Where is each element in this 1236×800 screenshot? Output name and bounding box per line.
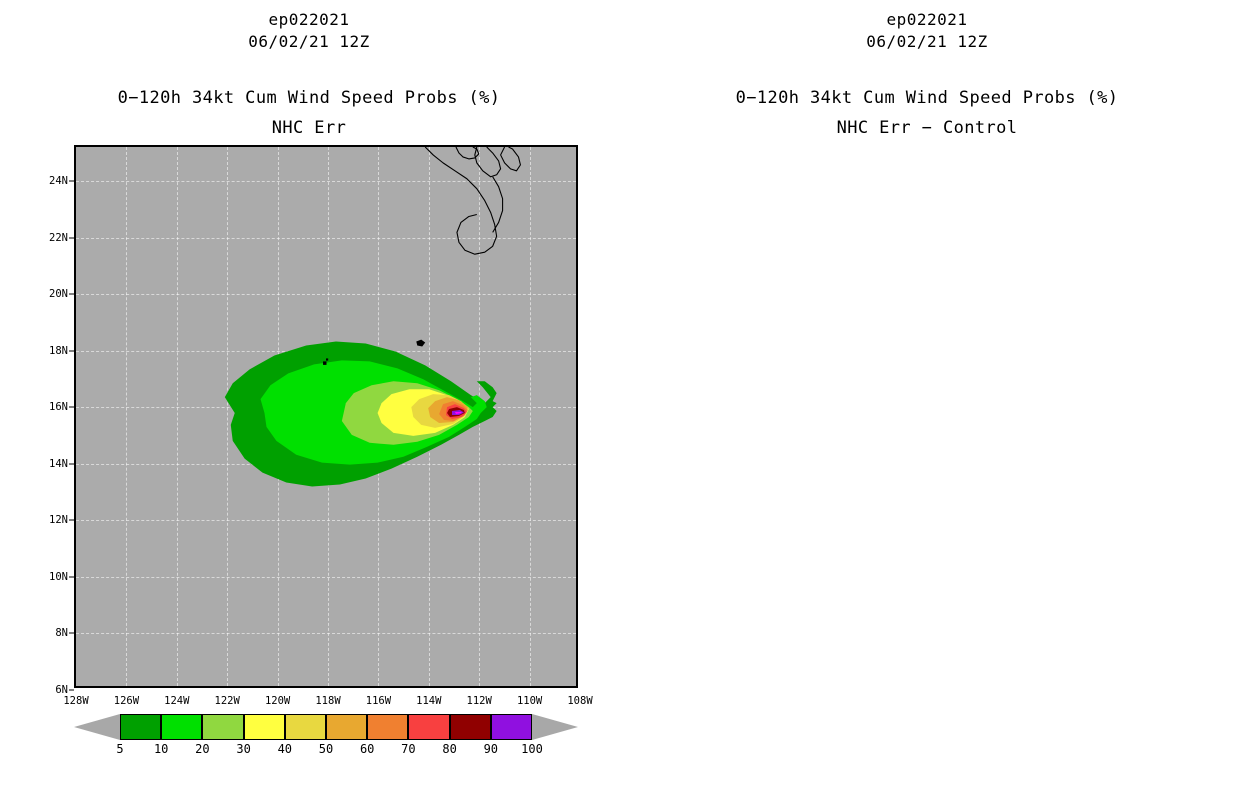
colorbar-tick-label: 100 xyxy=(521,742,543,756)
colorbar-segment xyxy=(244,714,285,740)
storm-id-left: ep022021 xyxy=(0,10,618,29)
y-axis-tick xyxy=(69,180,74,181)
chart-title-left: 0−120h 34kt Cum Wind Speed Probs (%) xyxy=(0,88,618,108)
panel-nhc-err-minus-control: ep022021 06/02/21 12Z 0−120h 34kt Cum Wi… xyxy=(618,0,1236,800)
y-axis-tick xyxy=(69,350,74,351)
x-axis-tick-label: 126W xyxy=(114,695,139,707)
colorbar-segment xyxy=(120,714,161,740)
colorbar-tick-label: 90 xyxy=(484,742,498,756)
x-axis-tick-label: 114W xyxy=(416,695,441,707)
x-axis-tick-label: 118W xyxy=(315,695,340,707)
y-axis-tick-label: 12N xyxy=(34,514,68,526)
storm-id-right: ep022021 xyxy=(618,10,1236,29)
panel-nhc-err: ep022021 06/02/21 12Z 0−120h 34kt Cum Wi… xyxy=(0,0,618,800)
y-axis-tick-label: 24N xyxy=(34,175,68,187)
colorbar-arrow-high xyxy=(532,714,578,740)
colorbar-probability: 5102030405060708090100 xyxy=(74,714,578,774)
colorbar-tick-label: 50 xyxy=(319,742,333,756)
y-axis-tick-label: 14N xyxy=(34,458,68,470)
y-axis-tick-label: 10N xyxy=(34,571,68,583)
chart-title-right: 0−120h 34kt Cum Wind Speed Probs (%) xyxy=(618,88,1236,108)
colorbar-tick-label: 20 xyxy=(195,742,209,756)
y-axis-tick xyxy=(69,633,74,634)
y-axis-tick-label: 20N xyxy=(34,288,68,300)
colorbar-tick-label: 60 xyxy=(360,742,374,756)
x-axis-tick-label: 116W xyxy=(366,695,391,707)
x-axis-tick-label: 108W xyxy=(567,695,592,707)
chart-subtitle-right: NHC Err − Control xyxy=(618,118,1236,138)
colorbar-tick-label: 80 xyxy=(442,742,456,756)
x-axis-tick-label: 128W xyxy=(63,695,88,707)
x-axis-tick-label: 110W xyxy=(517,695,542,707)
chart-subtitle-left: NHC Err xyxy=(0,118,618,138)
y-axis-tick-label: 18N xyxy=(34,345,68,357)
y-axis-tick xyxy=(69,576,74,577)
colorbar-tick-label: 10 xyxy=(154,742,168,756)
colorbar-segment xyxy=(450,714,491,740)
colorbar-segment xyxy=(285,714,326,740)
y-axis-tick xyxy=(69,690,74,691)
colorbar-segment xyxy=(491,714,532,740)
y-axis-tick xyxy=(69,294,74,295)
colorbar-tick-label: 40 xyxy=(278,742,292,756)
storm-date-left: 06/02/21 12Z xyxy=(0,32,618,51)
x-axis-tick-label: 120W xyxy=(265,695,290,707)
colorbar-segment xyxy=(161,714,202,740)
y-axis-tick xyxy=(69,520,74,521)
y-axis-tick xyxy=(69,407,74,408)
figure-root: ep022021 06/02/21 12Z 0−120h 34kt Cum Wi… xyxy=(0,0,1236,800)
colorbar-segment xyxy=(408,714,449,740)
x-axis-tick-label: 112W xyxy=(467,695,492,707)
y-axis-tick-label: 22N xyxy=(34,232,68,244)
y-axis-tick-label: 8N xyxy=(34,627,68,639)
colorbar-segment xyxy=(326,714,367,740)
map-plot-nhc-err xyxy=(74,145,578,688)
y-axis-tick-label: 16N xyxy=(34,401,68,413)
x-axis-tick-label: 122W xyxy=(215,695,240,707)
colorbar-tick-label: 5 xyxy=(116,742,123,756)
colorbar-segment xyxy=(367,714,408,740)
x-axis-tick-label: 124W xyxy=(164,695,189,707)
y-axis-tick xyxy=(69,463,74,464)
colorbar-tick-label: 30 xyxy=(236,742,250,756)
y-axis-tick xyxy=(69,237,74,238)
storm-date-right: 06/02/21 12Z xyxy=(618,32,1236,51)
coastline-left xyxy=(76,147,576,686)
colorbar-arrow-low xyxy=(74,714,120,740)
colorbar-segment xyxy=(202,714,243,740)
colorbar-tick-label: 70 xyxy=(401,742,415,756)
